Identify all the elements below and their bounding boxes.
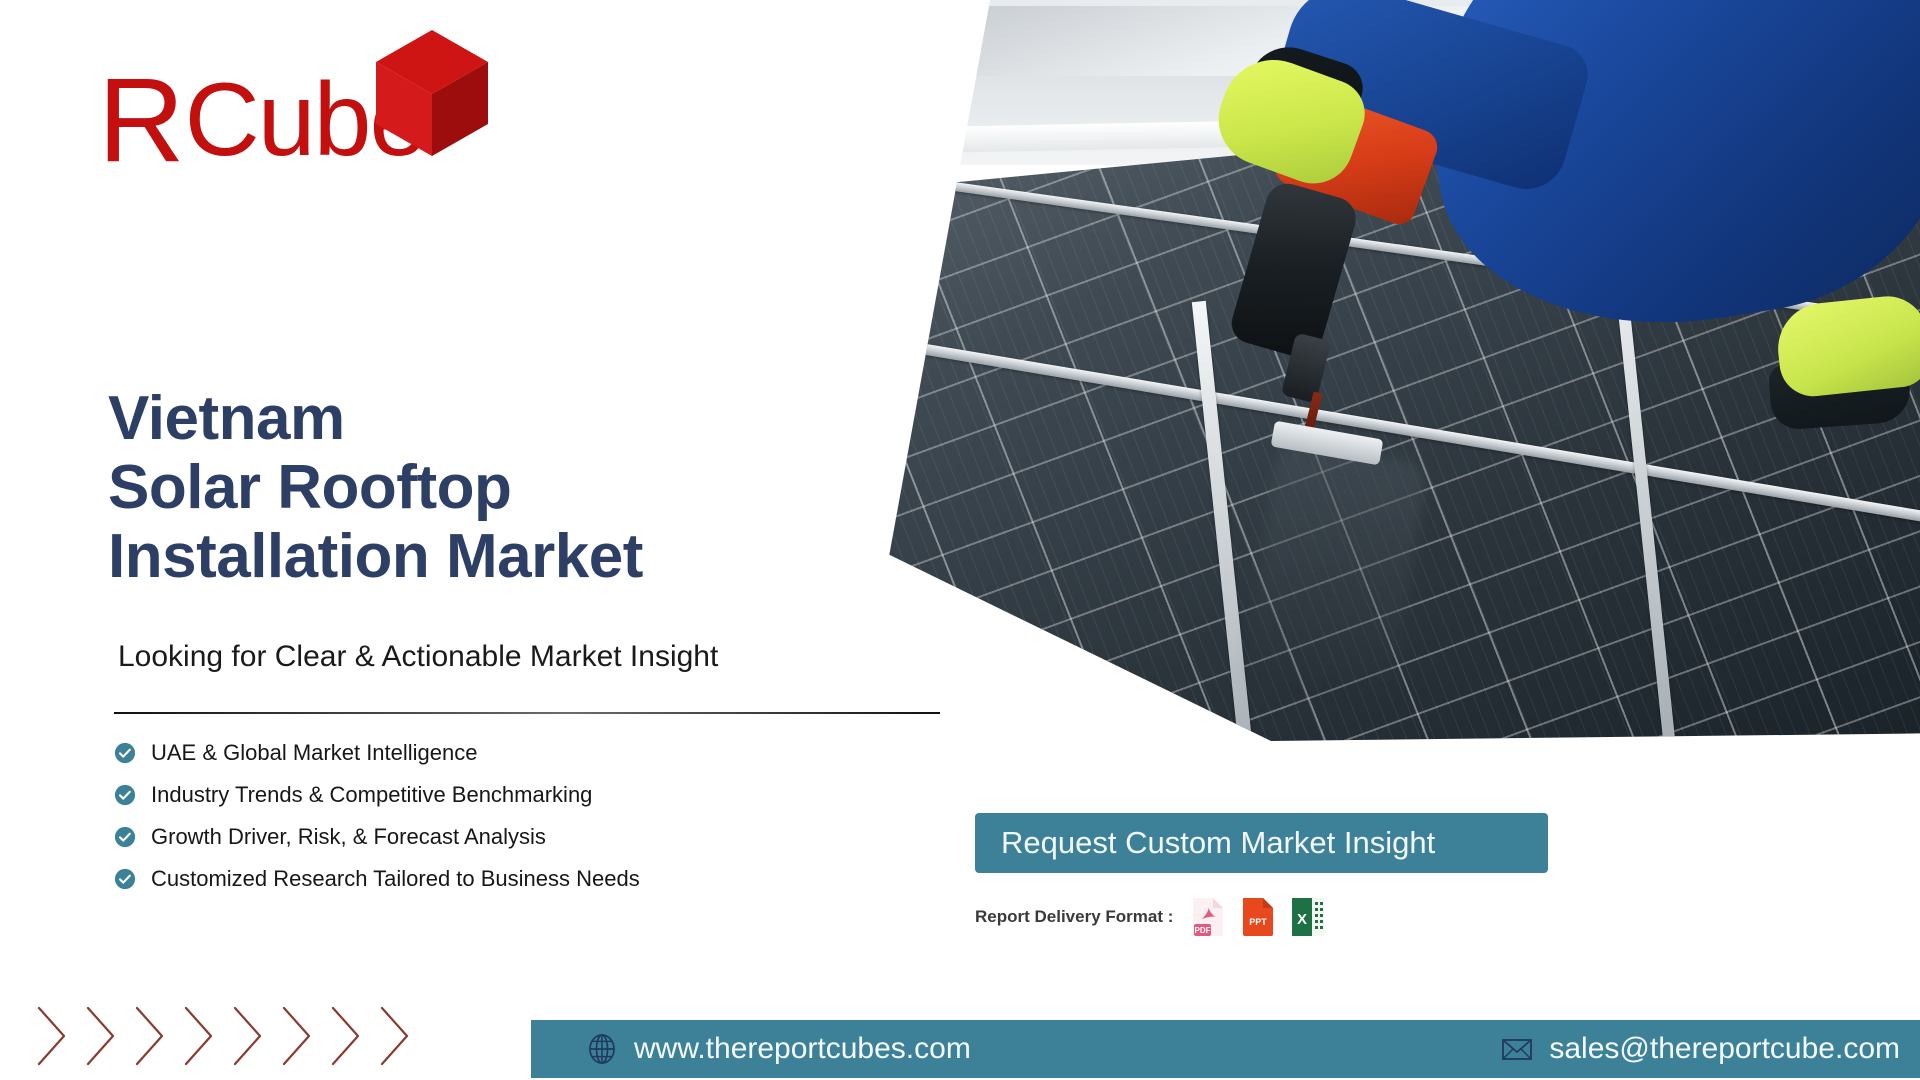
hero-photo [660,0,1920,760]
svg-text:PDF: PDF [1195,926,1211,935]
check-circle-icon [114,826,136,848]
check-circle-icon [114,784,136,806]
brand-logo-letter: Я [100,60,185,180]
list-item-label: Customized Research Tailored to Business… [151,866,640,892]
svg-text:PPT: PPT [1250,917,1268,927]
chevron-decoration [30,1003,417,1069]
envelope-icon [1501,1033,1533,1065]
double-chevron-right-icon [226,1003,270,1069]
page-title: Vietnam Solar Rooftop Installation Marke… [108,384,643,592]
list-item: Industry Trends & Competitive Benchmarki… [114,774,814,816]
check-circle-icon [114,868,136,890]
double-chevron-right-icon [128,1003,172,1069]
feature-list: UAE & Global Market Intelligence Industr… [114,732,814,900]
footer-email[interactable]: sales@thereportcube.com [1501,1032,1900,1066]
red-cube-icon [372,28,492,160]
list-item: UAE & Global Market Intelligence [114,732,814,774]
brand-logo[interactable]: ЯCube [100,28,520,198]
double-chevron-right-icon [324,1003,368,1069]
list-item: Customized Research Tailored to Business… [114,858,814,900]
svg-text:X: X [1297,911,1307,928]
poster-canvas: ЯCube Vietnam Solar Rooftop Installation… [0,0,1920,1080]
excel-file-icon[interactable]: X [1291,896,1325,938]
page-subtitle: Looking for Clear & Actionable Market In… [118,640,718,674]
report-delivery-format: Report Delivery Format : PDF PPT X [975,896,1341,938]
globe-icon [586,1033,618,1065]
list-item-label: UAE & Global Market Intelligence [151,740,478,766]
double-chevron-right-icon [30,1003,74,1069]
double-chevron-right-icon [79,1003,123,1069]
list-item: Growth Driver, Risk, & Forecast Analysis [114,816,814,858]
request-custom-market-insight-button[interactable]: Request Custom Market Insight [975,813,1548,873]
footer-email-text: sales@thereportcube.com [1549,1032,1900,1066]
ppt-file-icon[interactable]: PPT [1241,896,1275,938]
list-item-label: Growth Driver, Risk, & Forecast Analysis [151,824,546,850]
subtitle-divider [114,712,940,714]
check-circle-icon [114,742,136,764]
double-chevron-right-icon [275,1003,319,1069]
list-item-label: Industry Trends & Competitive Benchmarki… [151,782,592,808]
double-chevron-right-icon [177,1003,221,1069]
footer-website-text: www.thereportcubes.com [634,1032,971,1066]
footer-contact-bar: www.thereportcubes.com sales@thereportcu… [531,1020,1920,1078]
pdf-file-icon[interactable]: PDF [1191,896,1225,938]
footer-website[interactable]: www.thereportcubes.com [586,1032,971,1066]
double-chevron-right-icon [373,1003,417,1069]
report-delivery-format-label: Report Delivery Format : [975,907,1173,927]
